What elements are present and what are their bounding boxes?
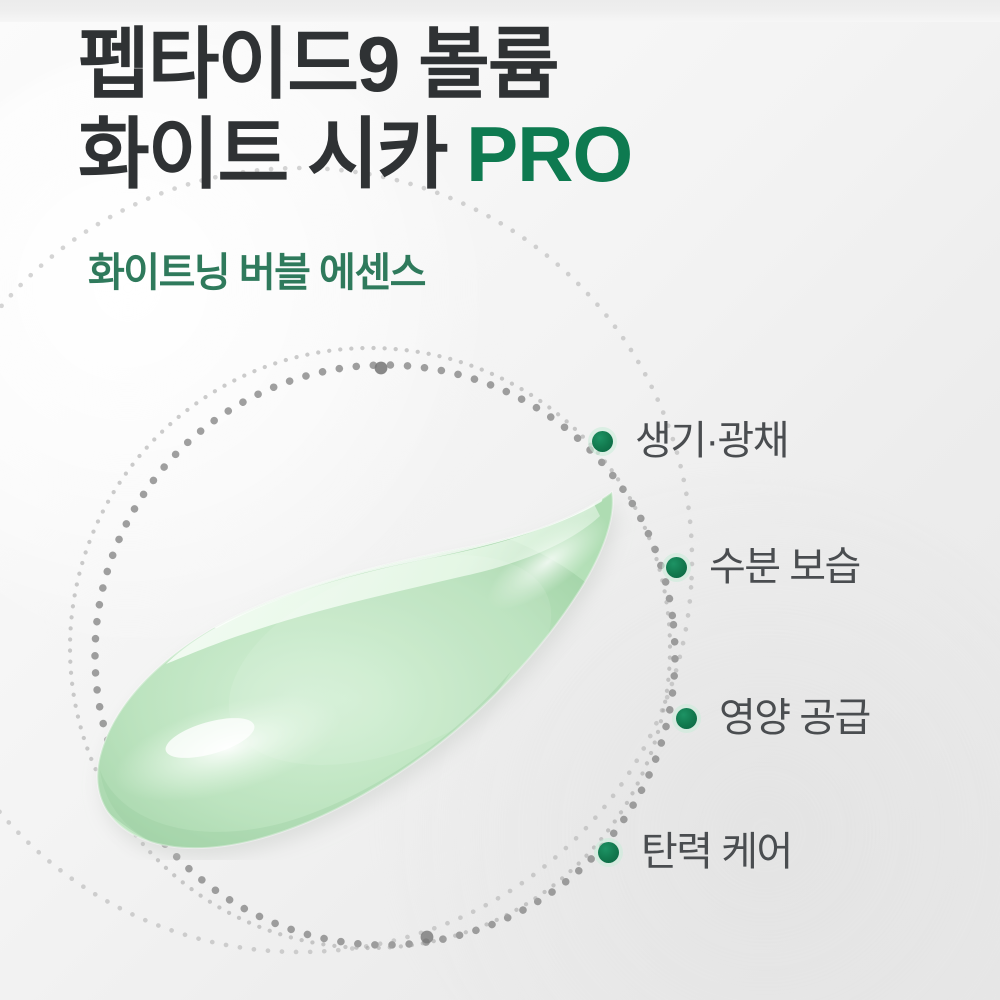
subheadline: 화이트닝 버블 에센스 xyxy=(88,250,425,296)
cream-texture-swatch xyxy=(60,470,640,860)
feature-item-3: 영양 공급 xyxy=(676,696,870,740)
feature-label-2: 수분 보습 xyxy=(709,545,860,589)
feature-label-1: 생기·광채 xyxy=(635,419,788,463)
product-marketing-banner: 펩타이드9 볼륨 화이트 시카 PRO 화이트닝 버블 에센스 xyxy=(0,0,1000,1000)
headline-block: 펩타이드9 볼륨 화이트 시카 PRO xyxy=(78,22,838,196)
headline-pro-accent: PRO xyxy=(466,110,632,198)
green-dot-marker-icon xyxy=(592,431,613,452)
headline-line-2-main: 화이트 시카 xyxy=(78,110,466,198)
feature-label-3: 영양 공급 xyxy=(719,696,870,740)
green-dot-marker-icon xyxy=(676,708,697,729)
feature-item-2: 수분 보습 xyxy=(666,545,860,589)
headline-line-2: 화이트 시카 PRO xyxy=(78,112,838,196)
headline-line-1: 펩타이드9 볼륨 xyxy=(78,22,838,106)
green-dot-marker-icon xyxy=(666,557,687,578)
green-dot-marker-icon xyxy=(598,842,619,863)
ring-terminal-dot-bottom xyxy=(421,931,434,944)
feature-item-4: 탄력 케어 xyxy=(598,830,792,874)
feature-item-1: 생기·광채 xyxy=(592,419,788,463)
feature-label-4: 탄력 케어 xyxy=(641,830,792,874)
ring-terminal-dot-top xyxy=(375,362,388,375)
